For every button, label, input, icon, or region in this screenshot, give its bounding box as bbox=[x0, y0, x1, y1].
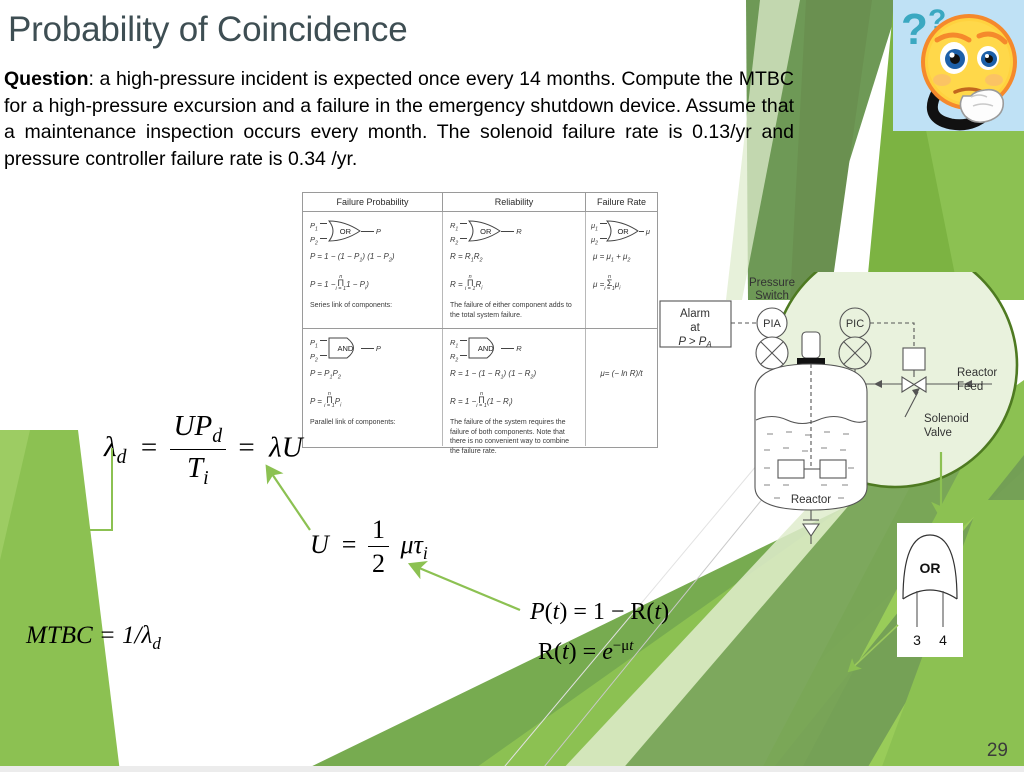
or-gate-symbol-fp: P1P2 OR P bbox=[310, 218, 435, 244]
gate-output-label: R bbox=[516, 227, 521, 236]
equals2: = bbox=[238, 431, 262, 463]
column-header-failure-probability: Failure Probability bbox=[303, 193, 443, 211]
or-gate-symbol-rel: R1R2 OR R bbox=[450, 218, 578, 244]
cell-note: The failure of the system requires the f… bbox=[450, 418, 578, 456]
lambda-u: λU bbox=[269, 431, 303, 463]
pressure-switch-label-1: Pressure bbox=[749, 277, 795, 289]
table-row: P1P2 AND P P = P1P2 P = nΠi = 1Pi Parall… bbox=[303, 329, 657, 446]
equation-text: μ = μ1 + μ2 bbox=[593, 251, 650, 267]
equation-text: R = 1 −nΠi = 1(1 − Ri) bbox=[450, 391, 578, 412]
equation-text: P = 1 −nΠi = 11 − Pi) bbox=[310, 274, 435, 295]
solenoid-valve-label-2: Valve bbox=[924, 427, 952, 439]
alarm-line-1: Alarm bbox=[680, 308, 710, 320]
gate-output-label: P bbox=[376, 227, 381, 236]
or-gate-callout: OR 3 4 bbox=[897, 523, 963, 657]
cell-note: Series link of components: bbox=[310, 301, 435, 311]
gate-output-lead-icon bbox=[361, 231, 374, 232]
reactor-feed-label-1: Reactor bbox=[957, 367, 997, 379]
equation-text: P = 1 − (1 − P1) (1 − P2) bbox=[310, 251, 435, 267]
equation-rt-line: R(t) = e−μt bbox=[530, 629, 669, 669]
arrow-pt-to-u bbox=[412, 565, 520, 610]
reactor-feed-label-2: Feed bbox=[957, 381, 983, 393]
gate-output-lead-icon bbox=[639, 231, 644, 232]
cell-or-reliability: R1R2 OR R R = R1R2 R = nΠi = 1Ri The fai… bbox=[443, 212, 586, 328]
question-paragraph: Question: a high-pressure incident is ex… bbox=[4, 66, 794, 172]
gate-input-leads-icon bbox=[320, 338, 327, 358]
and-gate-symbol-rel: R1R2 AND R bbox=[450, 335, 578, 361]
column-header-reliability: Reliability bbox=[443, 193, 586, 211]
page-number: 29 bbox=[987, 740, 1008, 762]
and-gate-icon: AND bbox=[467, 337, 501, 359]
cell-or-failure-rate: μ1μ2 OR μ μ = μ1 + μ2 μ =nΣi = 1μi bbox=[586, 212, 657, 328]
u-lhs: U bbox=[310, 530, 329, 559]
failure-logic-reference-table: Failure Probability Reliability Failure … bbox=[302, 192, 658, 448]
arrow-orgate-outward bbox=[850, 625, 898, 670]
fraction-numerator: 1 bbox=[368, 515, 389, 547]
thinking-face-emoji-image: ? ? bbox=[893, 0, 1024, 131]
gate-input-labels: R1R2 bbox=[450, 338, 458, 358]
or-gate-symbol-fr: μ1μ2 OR μ bbox=[591, 218, 650, 244]
table-row: P1P2 OR P P = 1 − (1 − P1) (1 − P2) P = … bbox=[303, 212, 657, 329]
pressure-switch-label-2: Switch bbox=[755, 290, 789, 302]
equals: = bbox=[335, 530, 356, 559]
or-gate-label: OR bbox=[327, 220, 361, 242]
or-gate-icon: OR bbox=[605, 220, 639, 242]
question-body: : a high-pressure incident is expected o… bbox=[4, 68, 794, 170]
and-gate-label: AND bbox=[327, 337, 361, 359]
gate-input-labels: R1R2 bbox=[450, 221, 458, 241]
or-gate-input-3: 3 bbox=[913, 632, 921, 648]
process-flow-diagram: Alarm at P > PA Pressure Switch PIA PIC … bbox=[652, 272, 1024, 562]
gate-input-labels: μ1μ2 bbox=[591, 221, 598, 241]
fraction-denominator: Ti bbox=[170, 450, 227, 490]
gate-output-label: P bbox=[376, 344, 381, 353]
equation-text: R = 1 − (1 − R1) (1 − R2) bbox=[450, 368, 578, 384]
gate-input-leads-icon bbox=[460, 338, 467, 358]
gate-output-label: R bbox=[516, 344, 521, 353]
question-label: Question bbox=[4, 68, 89, 90]
fraction-denominator: 2 bbox=[368, 547, 389, 579]
mu-tau-i: μτi bbox=[400, 530, 427, 559]
equation-text: μ =nΣi = 1μi bbox=[593, 274, 650, 295]
or-gate-callout-label: OR bbox=[920, 560, 941, 576]
equation-mtbc: MTBC = 1/λd bbox=[26, 622, 161, 654]
cell-and-failure-rate: μ= (− ln R)/t bbox=[586, 329, 657, 446]
cell-and-failure-probability: P1P2 AND P P = P1P2 P = nΠi = 1Pi Parall… bbox=[303, 329, 443, 446]
or-gate-label: OR bbox=[467, 220, 501, 242]
cell-or-failure-probability: P1P2 OR P P = 1 − (1 − P1) (1 − P2) P = … bbox=[303, 212, 443, 328]
fraction-upd-ti: UPd Ti bbox=[170, 410, 227, 490]
gate-output-lead-icon bbox=[361, 348, 374, 349]
equals: = bbox=[134, 431, 158, 463]
cell-note: Parallel link of components: bbox=[310, 418, 435, 428]
fraction-one-half: 1 2 bbox=[368, 515, 389, 579]
and-gate-label: AND bbox=[467, 337, 501, 359]
table-header-row: Failure Probability Reliability Failure … bbox=[303, 193, 657, 212]
gate-input-leads-icon bbox=[460, 221, 467, 241]
gate-input-labels: P1P2 bbox=[310, 338, 318, 358]
or-gate-label: OR bbox=[605, 220, 639, 242]
lambda-d-lhs: λd bbox=[104, 431, 126, 463]
equation-pt-line: P(t) = 1 − R(t) bbox=[530, 595, 669, 629]
pic-tag: PIC bbox=[846, 318, 864, 330]
and-gate-symbol-fp: P1P2 AND P bbox=[310, 335, 435, 361]
equation-text: μ= (− ln R)/t bbox=[600, 368, 642, 379]
gate-output-lead-icon bbox=[501, 348, 514, 349]
alarm-line-2: at bbox=[690, 322, 700, 334]
equation-unavailability: U = 1 2 μτi bbox=[310, 515, 428, 579]
equation-text: P = nΠi = 1Pi bbox=[310, 391, 435, 412]
column-header-failure-rate: Failure Rate bbox=[586, 193, 657, 211]
gate-output-label: μ bbox=[646, 227, 650, 236]
gate-output-lead-icon bbox=[501, 231, 514, 232]
slide-canvas: Probability of Coincidence Question: a h… bbox=[0, 0, 1024, 772]
or-gate-icon: OR bbox=[467, 220, 501, 242]
or-gate-input-4: 4 bbox=[939, 632, 947, 648]
equation-text: R = R1R2 bbox=[450, 251, 578, 267]
and-gate-icon: AND bbox=[327, 337, 361, 359]
cell-note: The failure of either component adds to … bbox=[450, 301, 578, 320]
equation-probability-reliability: P(t) = 1 − R(t) R(t) = e−μt bbox=[530, 595, 669, 669]
pia-tag: PIA bbox=[763, 318, 781, 330]
equation-text: R = nΠi = 1Ri bbox=[450, 274, 578, 295]
solenoid-valve-label-1: Solenoid bbox=[924, 413, 969, 425]
or-gate-icon: OR bbox=[327, 220, 361, 242]
gate-input-labels: P1P2 bbox=[310, 221, 318, 241]
cell-and-reliability: R1R2 AND R R = 1 − (1 − R1) (1 − R2) R =… bbox=[443, 329, 586, 446]
equation-text: P = P1P2 bbox=[310, 368, 435, 384]
reactor-label: Reactor bbox=[791, 494, 831, 506]
page-title: Probability of Coincidence bbox=[8, 8, 407, 52]
gate-input-leads-icon bbox=[320, 221, 327, 241]
equation-lambda-d: λd = UPd Ti = λU bbox=[104, 410, 303, 490]
fraction-numerator: UPd bbox=[170, 410, 227, 450]
